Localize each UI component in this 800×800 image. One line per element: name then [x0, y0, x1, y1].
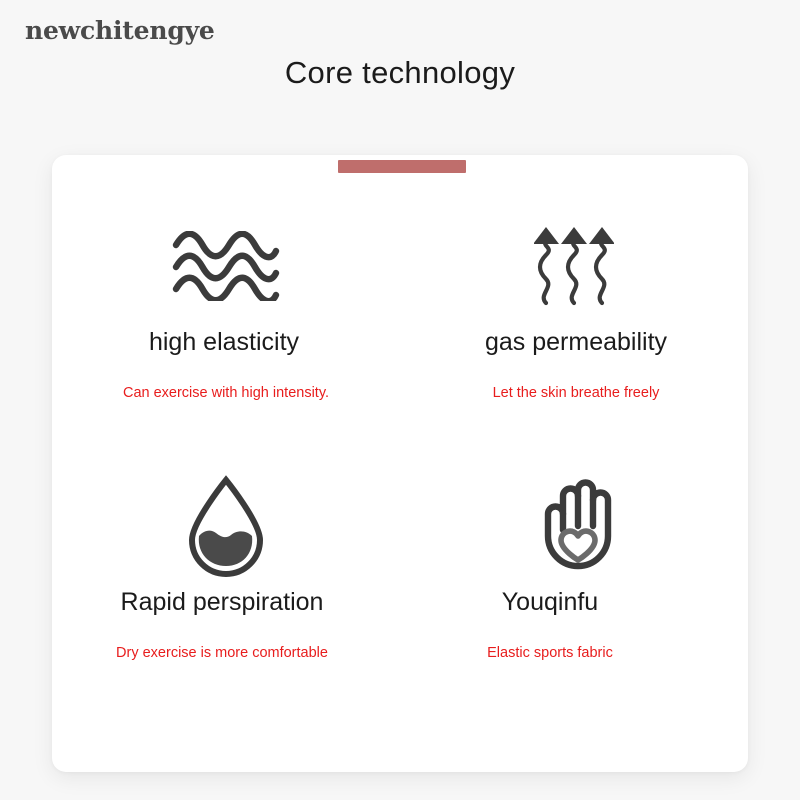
- feature-title: high elasticity: [149, 330, 299, 355]
- feature-title: Rapid perspiration: [121, 590, 324, 615]
- watermark: newchitengye: [25, 16, 215, 45]
- feature-grid: high elasticity Can exercise with high i…: [52, 210, 748, 730]
- feature-subtitle: Dry exercise is more comfortable: [116, 645, 328, 661]
- core-technology-card: high elasticity Can exercise with high i…: [52, 155, 748, 772]
- page-title: Core technology: [0, 55, 800, 91]
- feature-title: gas permeability: [485, 330, 667, 355]
- hand-with-heart-icon: [532, 470, 616, 582]
- feature-subtitle: Can exercise with high intensity.: [123, 385, 329, 401]
- feature-item-high-elasticity: high elasticity Can exercise with high i…: [52, 210, 400, 470]
- rising-air-arrows-icon: [534, 210, 614, 322]
- water-droplet-icon: [184, 470, 268, 582]
- accent-bar: [338, 160, 466, 173]
- feature-item-gas-permeability: gas permeability Let the skin breathe fr…: [400, 210, 748, 470]
- feature-title: Youqinfu: [502, 590, 598, 615]
- wavy-lines-icon: [172, 210, 280, 322]
- feature-subtitle: Elastic sports fabric: [487, 645, 613, 661]
- feature-item-youqinfu: Youqinfu Elastic sports fabric: [400, 470, 748, 730]
- feature-item-rapid-perspiration: Rapid perspiration Dry exercise is more …: [52, 470, 400, 730]
- feature-subtitle: Let the skin breathe freely: [493, 385, 660, 401]
